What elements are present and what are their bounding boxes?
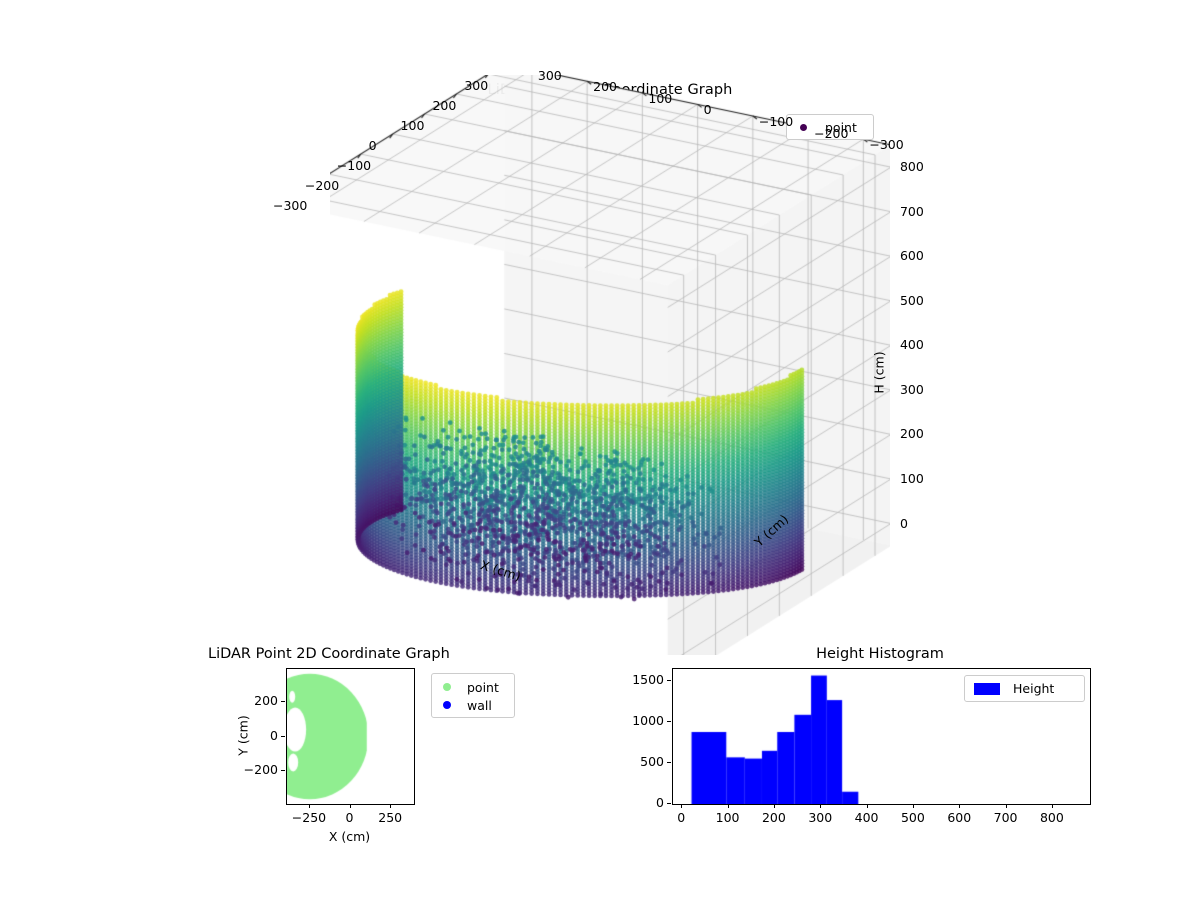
y-tick-label: −300 — [869, 137, 903, 152]
legend-wall-marker-icon — [443, 701, 451, 709]
z-tick-label: 100 — [900, 471, 924, 486]
z-tick-label: 400 — [900, 337, 924, 352]
x-tick-label: −300 — [273, 198, 307, 213]
lidar-2d-canvas — [287, 669, 414, 804]
plot2d-y-axis-label: Y (cm) — [236, 690, 251, 780]
x-tick-label: −200 — [305, 178, 339, 193]
z-tick-label: 0 — [900, 516, 908, 531]
x-tick-label: 700 — [990, 810, 1022, 825]
x-tick-label: −100 — [337, 158, 371, 173]
legend-row-point: point — [432, 678, 514, 696]
legend-height-swatch-icon — [974, 683, 1000, 695]
y-tick-mark — [667, 762, 671, 763]
x-tick-label: 300 — [804, 810, 836, 825]
y-tick-label: 200 — [593, 79, 617, 94]
x-tick-label: 500 — [897, 810, 929, 825]
y-tick-label: 300 — [538, 68, 562, 83]
x-tick-label: 800 — [1036, 810, 1068, 825]
x-tick-mark — [390, 804, 391, 808]
x-tick-label: 400 — [851, 810, 883, 825]
y-tick-mark — [281, 701, 285, 702]
x-tick-mark — [774, 804, 775, 808]
lidar-2d-axes — [286, 668, 415, 805]
x-tick-mark — [309, 804, 310, 808]
y-tick-mark — [667, 803, 671, 804]
y-tick-label: −100 — [759, 114, 793, 129]
y-tick-mark — [667, 680, 671, 681]
legend-height-label: Height — [1013, 681, 1054, 696]
plot2d-x-axis-label: X (cm) — [286, 829, 413, 844]
histogram-legend: Height — [964, 675, 1085, 702]
z-tick-label: 300 — [900, 382, 924, 397]
legend-point-marker-icon — [443, 683, 451, 691]
x-tick-label: 200 — [432, 98, 456, 113]
x-tick-label: 250 — [373, 810, 407, 825]
x-tick-label: 200 — [758, 810, 790, 825]
x-tick-mark — [1052, 804, 1053, 808]
x-tick-label: 0 — [665, 810, 697, 825]
y-tick-label: 1500 — [620, 672, 664, 687]
plot2d-legend: point wall — [431, 673, 515, 718]
x-tick-mark — [820, 804, 821, 808]
z-tick-label: 500 — [900, 293, 924, 308]
x-tick-label: 300 — [464, 78, 488, 93]
y-tick-label: 100 — [648, 91, 672, 106]
lidar-3d-axes — [330, 75, 890, 655]
legend-point-marker-icon — [800, 124, 807, 131]
lidar-3d-canvas — [330, 75, 890, 655]
x-tick-mark — [913, 804, 914, 808]
z-axis-label: H (cm) — [872, 351, 887, 393]
x-tick-mark — [681, 804, 682, 808]
legend-wall-label: wall — [467, 698, 492, 713]
matplotlib-figure: LiDAR Point 3D Coordinate Graph point 01… — [0, 0, 1200, 900]
x-tick-label: −250 — [292, 810, 326, 825]
y-tick-mark — [281, 770, 285, 771]
y-tick-label: 1000 — [620, 713, 664, 728]
y-tick-label: 500 — [620, 754, 664, 769]
x-tick-label: 100 — [712, 810, 744, 825]
legend-row-wall: wall — [432, 696, 514, 714]
histogram-title: Height Histogram — [670, 646, 1090, 662]
plot2d-title: LiDAR Point 2D Coordinate Graph — [208, 646, 450, 662]
y-tick-mark — [281, 736, 285, 737]
z-tick-label: 700 — [900, 204, 924, 219]
x-tick-mark — [1006, 804, 1007, 808]
x-tick-mark — [728, 804, 729, 808]
x-tick-label: 600 — [943, 810, 975, 825]
x-tick-mark — [959, 804, 960, 808]
y-tick-label: 0 — [620, 795, 664, 810]
legend-point-label: point — [467, 680, 499, 695]
z-tick-label: 600 — [900, 248, 924, 263]
x-tick-label: 0 — [333, 810, 367, 825]
z-tick-label: 200 — [900, 426, 924, 441]
x-tick-label: 0 — [369, 138, 377, 153]
y-tick-mark — [667, 721, 671, 722]
y-tick-label: 0 — [704, 102, 712, 117]
x-tick-mark — [350, 804, 351, 808]
z-tick-label: 800 — [900, 159, 924, 174]
y-tick-label: −200 — [814, 126, 848, 141]
x-tick-mark — [867, 804, 868, 808]
x-tick-label: 100 — [401, 118, 425, 133]
